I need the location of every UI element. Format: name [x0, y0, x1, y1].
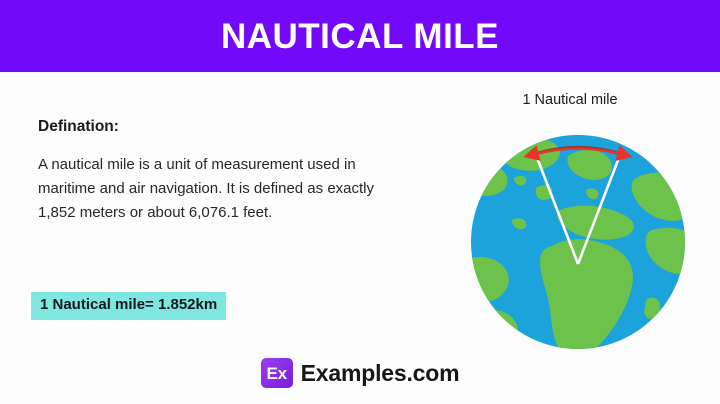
- header-banner: NAUTICAL MILE: [0, 0, 720, 72]
- definition-heading: Defination:: [38, 118, 383, 137]
- globe-measurement-label: 1 Nautical mile: [440, 92, 700, 109]
- conversion-formula-highlight: 1 Nautical mile= 1.852km: [31, 292, 226, 320]
- page-title: NAUTICAL MILE: [221, 19, 499, 54]
- globe-diagram: 1 Nautical mile: [440, 92, 700, 354]
- brand-logo[interactable]: Ex Examples.com: [0, 358, 720, 388]
- earth-globe-illustration: [440, 114, 700, 354]
- brand-name-text: Examples.com: [301, 362, 460, 385]
- definition-body-text: A nautical mile is a unit of measurement…: [38, 153, 383, 226]
- formula-container: 1 Nautical mile= 1.852km: [31, 292, 226, 320]
- definition-section: Defination: A nautical mile is a unit of…: [38, 118, 383, 225]
- examples-logo-badge-icon: Ex: [261, 358, 293, 388]
